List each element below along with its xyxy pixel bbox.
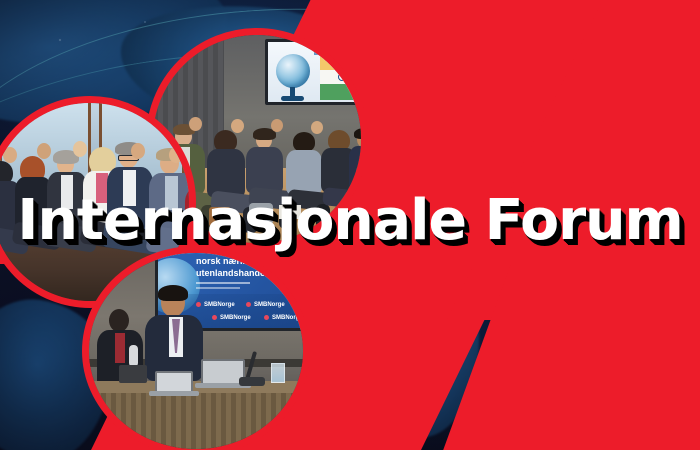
slide-brand-mark: SMBNorge [272,315,303,321]
slide-brand-mark: SMBNorge [220,315,251,321]
slide-brand-mark: SMBNorge [204,302,235,308]
presentation-screen [265,39,361,105]
slide-brand-mark: SMBNorge [254,302,285,308]
globe-icon [276,54,310,88]
slide-headline-line-1: norsk næringsliv og [196,256,282,266]
internasjonale-forum-banner: norsk næringsliv og utenlandshandel? SMB… [0,0,700,450]
banner-title: Internasjonale Forum [0,190,700,252]
microphone-icon [129,345,138,367]
laptop-screen [155,371,193,393]
slide-headline-line-2: utenlandshandel? [196,268,273,278]
podium-front [89,393,303,449]
water-glass [271,363,285,383]
photo-speaker-bottom: norsk næringsliv og utenlandshandel? SMB… [82,246,310,450]
